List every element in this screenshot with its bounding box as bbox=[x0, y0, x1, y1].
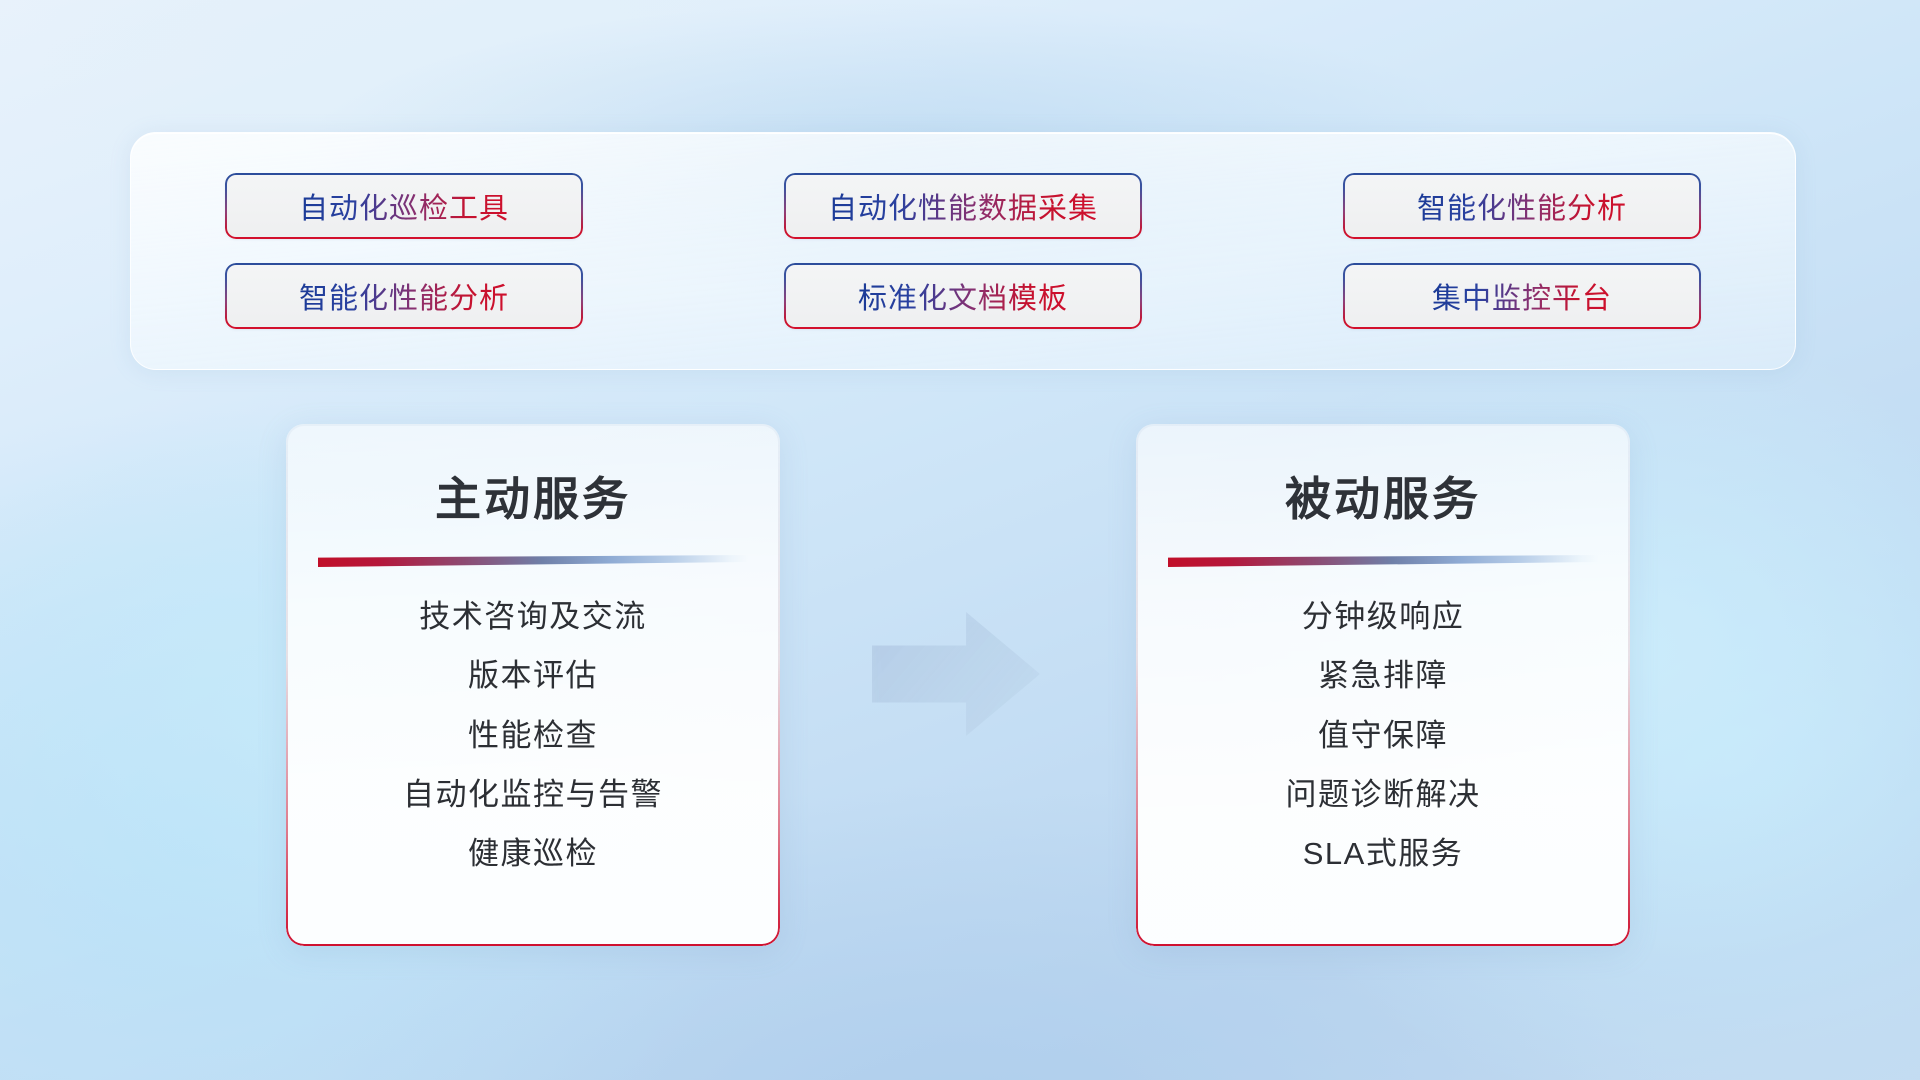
capability-chip-label: 集中监控平台 bbox=[1432, 275, 1612, 317]
service-item-list: 技术咨询及交流 版本评估 性能检查 自动化监控与告警 健康巡检 bbox=[286, 597, 780, 874]
list-item: 版本评估 bbox=[468, 656, 598, 696]
title-divider bbox=[1168, 555, 1598, 567]
capability-chip-label: 智能化性能分析 bbox=[299, 275, 509, 317]
service-item-list: 分钟级响应 紧急排障 值守保障 问题诊断解决 SLA式服务 bbox=[1136, 597, 1630, 874]
diagram-stage: 自动化巡检工具 自动化性能数据采集 智能化性能分析 智能化性能分析 标准化文档模… bbox=[0, 0, 1920, 1080]
capability-chip-intelligent-performance-analysis-2[interactable]: 智能化性能分析 bbox=[225, 263, 583, 329]
list-item: 自动化监控与告警 bbox=[403, 775, 663, 815]
list-item: 分钟级响应 bbox=[1302, 597, 1465, 637]
capability-chip-label: 自动化巡检工具 bbox=[299, 185, 509, 227]
service-card-title: 主动服务 bbox=[286, 463, 780, 529]
title-divider bbox=[318, 555, 748, 567]
list-item: SLA式服务 bbox=[1303, 834, 1464, 874]
capabilities-row-1: 自动化巡检工具 自动化性能数据采集 智能化性能分析 bbox=[225, 173, 1701, 239]
title-divider-bar bbox=[318, 555, 748, 567]
arrow-right-icon bbox=[872, 612, 1040, 736]
list-item: 紧急排障 bbox=[1318, 656, 1448, 696]
list-item: 问题诊断解决 bbox=[1286, 775, 1481, 815]
list-item: 健康巡检 bbox=[468, 834, 598, 874]
service-card-reactive[interactable]: 被动服务 分钟级响应 紧急排障 值守保障 问题诊断解决 SLA式服务 bbox=[1136, 424, 1630, 946]
capability-chip-standardized-document-template[interactable]: 标准化文档模板 bbox=[784, 263, 1142, 329]
capability-chip-automated-inspection-tool[interactable]: 自动化巡检工具 bbox=[225, 173, 583, 239]
capability-chip-automated-performance-data-collection[interactable]: 自动化性能数据采集 bbox=[784, 173, 1142, 239]
capability-chip-label: 自动化性能数据采集 bbox=[828, 185, 1098, 227]
service-card-title: 被动服务 bbox=[1136, 463, 1630, 529]
capabilities-row-2: 智能化性能分析 标准化文档模板 集中监控平台 bbox=[225, 263, 1701, 329]
title-divider-bar bbox=[1168, 555, 1598, 567]
capability-chip-centralized-monitoring-platform[interactable]: 集中监控平台 bbox=[1343, 263, 1701, 329]
capability-chip-label: 智能化性能分析 bbox=[1417, 185, 1627, 227]
list-item: 技术咨询及交流 bbox=[419, 597, 647, 637]
capability-chip-intelligent-performance-analysis[interactable]: 智能化性能分析 bbox=[1343, 173, 1701, 239]
list-item: 性能检查 bbox=[468, 716, 598, 756]
service-card-proactive[interactable]: 主动服务 技术咨询及交流 版本评估 性能检查 自动化监控与告警 健康巡检 bbox=[286, 424, 780, 946]
capabilities-panel: 自动化巡检工具 自动化性能数据采集 智能化性能分析 智能化性能分析 标准化文档模… bbox=[130, 132, 1796, 370]
capability-chip-label: 标准化文档模板 bbox=[858, 275, 1068, 317]
list-item: 值守保障 bbox=[1318, 716, 1448, 756]
